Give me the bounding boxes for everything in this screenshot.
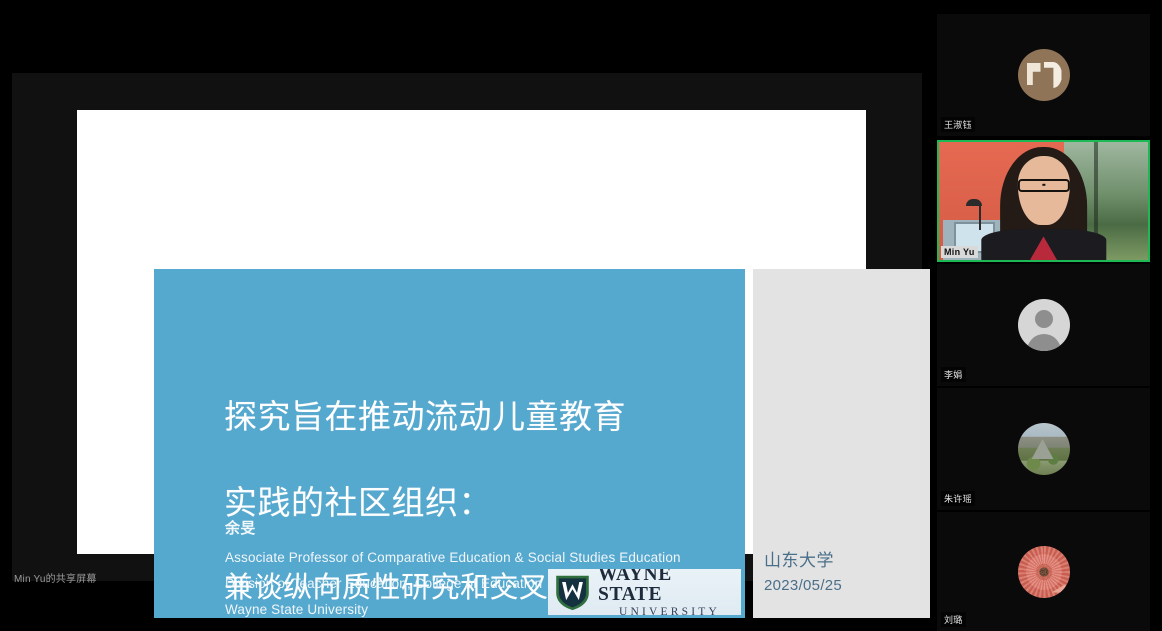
avatar xyxy=(1018,546,1070,598)
presentation-slide: 探究旨在推动流动儿童教育 实践的社区组织： 兼谈纵向质性研究和交叉性研究的可能 … xyxy=(77,110,866,554)
avatar xyxy=(1018,299,1070,351)
slide-title-line-1: 探究旨在推动流动儿童教育 xyxy=(224,395,734,438)
video-lamp-stem xyxy=(979,205,981,231)
slide-title-line-2: 实践的社区组织： xyxy=(224,481,734,524)
avatar xyxy=(1018,423,1070,475)
participant-name: 王淑钰 xyxy=(941,117,975,132)
participant-name: Min Yu xyxy=(941,246,978,258)
participant-tile[interactable]: 李娟 xyxy=(937,264,1150,386)
screen-share-status: Min Yu的共享屏幕 xyxy=(14,570,97,585)
participant-filmstrip[interactable]: 王淑钰 Min Yu 李娟 xyxy=(933,0,1162,631)
presentation-date: 2023/05/25 xyxy=(764,577,842,594)
video-feed xyxy=(939,142,1148,260)
avatar xyxy=(1018,49,1070,101)
participant-tile[interactable]: 刘璐 xyxy=(937,512,1150,631)
wayne-state-wordmark: WAYNE STATE UNIVERSITY xyxy=(598,569,741,615)
participant-name: 刘璐 xyxy=(941,612,966,627)
wayne-state-shield-icon xyxy=(554,573,591,611)
shared-screen-stage[interactable]: 探究旨在推动流动儿童教育 实践的社区组织： 兼谈纵向质性研究和交叉性研究的可能 … xyxy=(0,0,930,631)
affiliation-line-1: Associate Professor of Comparative Educa… xyxy=(225,545,695,571)
participant-tile[interactable]: 王淑钰 xyxy=(937,14,1150,136)
wordmark-line-2: UNIVERSITY xyxy=(598,607,741,615)
participant-tile-active-speaker[interactable]: Min Yu xyxy=(937,140,1150,262)
host-university-label: 山东大学 xyxy=(764,546,834,571)
participant-name: 朱许瑶 xyxy=(941,491,975,506)
participant-tile[interactable]: 朱许瑶 xyxy=(937,388,1150,510)
slide-side-panel: 山东大学 2023/05/25 xyxy=(753,269,930,618)
wayne-state-logo: WAYNE STATE UNIVERSITY xyxy=(548,569,741,615)
zoom-meeting-window: 探究旨在推动流动儿童教育 实践的社区组织： 兼谈纵向质性研究和交叉性研究的可能 … xyxy=(0,0,1162,631)
slide-title-panel: 探究旨在推动流动儿童教育 实践的社区组织： 兼谈纵向质性研究和交叉性研究的可能 … xyxy=(154,269,745,618)
glasses-icon xyxy=(1017,179,1069,192)
wordmark-line-1: WAYNE STATE xyxy=(598,569,741,604)
participant-name: 李娟 xyxy=(941,367,966,382)
slide-author-name: 余旻 xyxy=(225,517,256,538)
